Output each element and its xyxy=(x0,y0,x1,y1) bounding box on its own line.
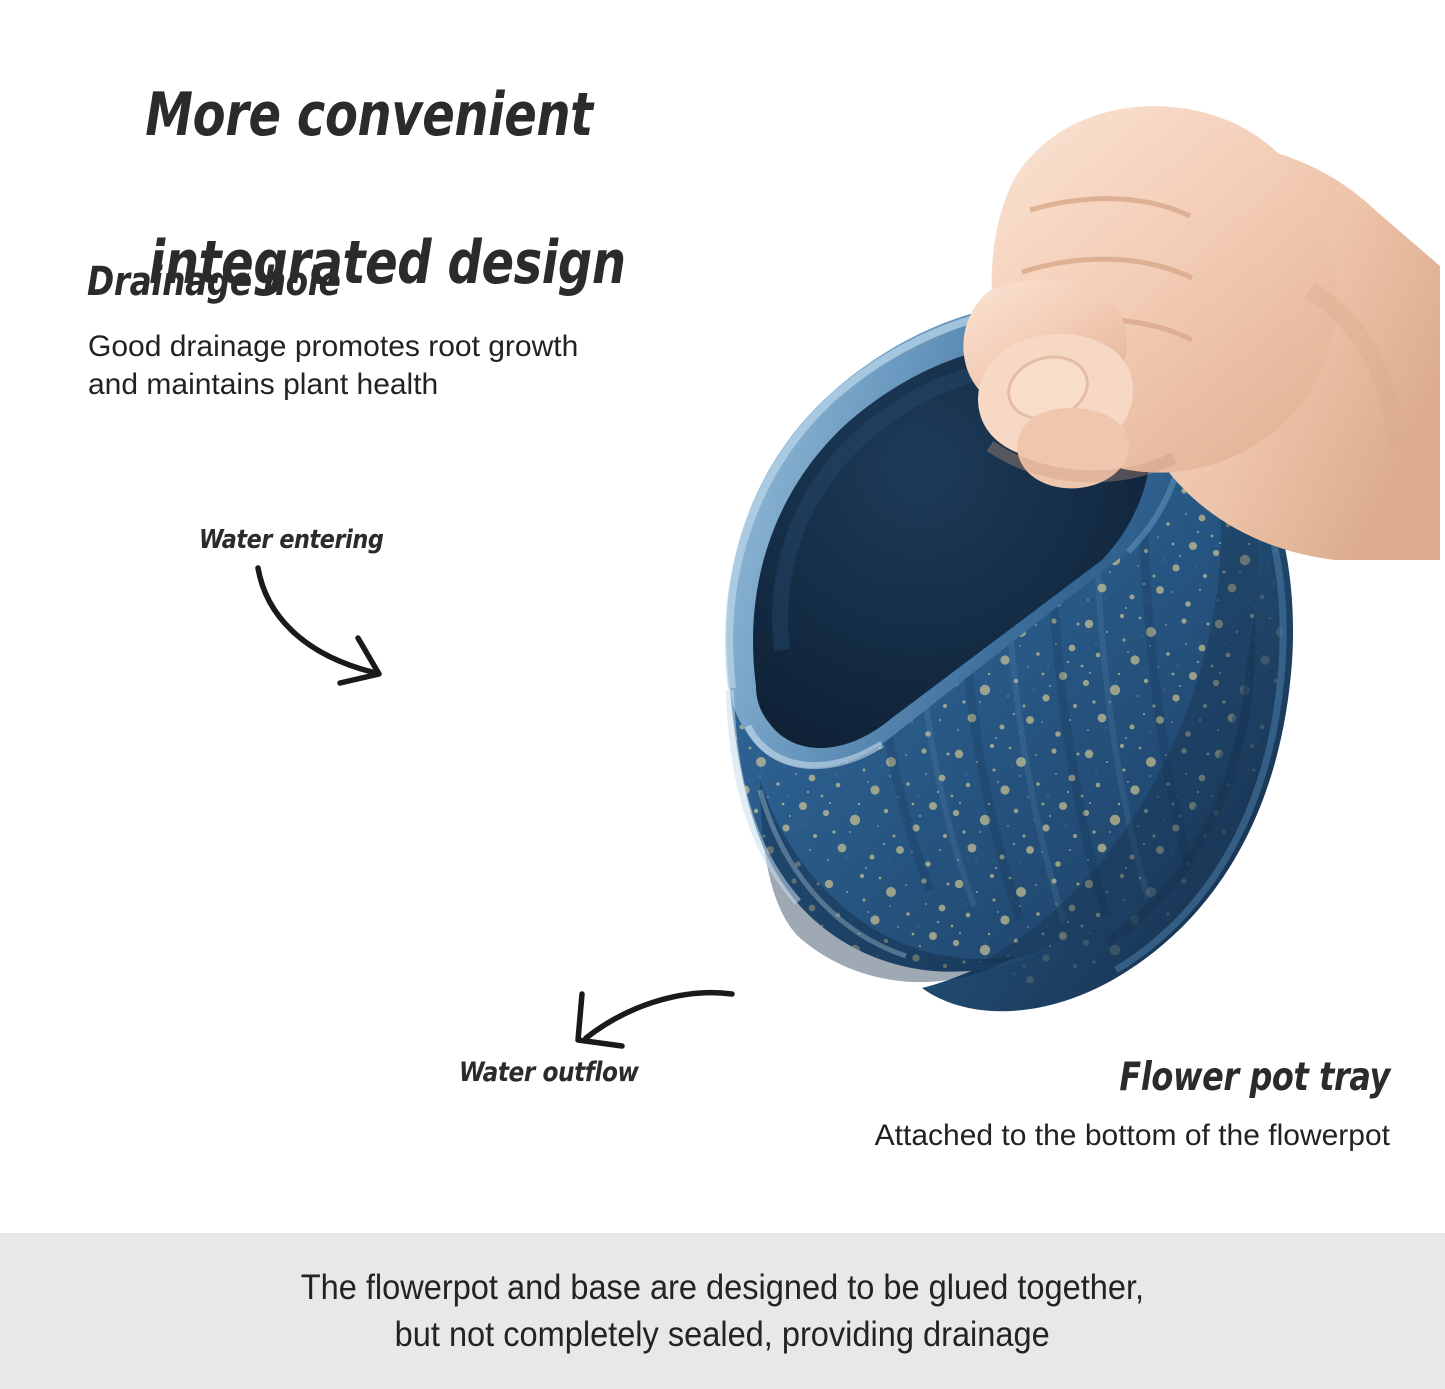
water-outflow-label: Water outflow xyxy=(459,1056,639,1090)
banner-line2: but not completely sealed, providing dra… xyxy=(395,1311,1050,1358)
water-entering-label: Water entering xyxy=(199,524,383,556)
bottom-banner: The flowerpot and base are designed to b… xyxy=(0,1233,1445,1389)
banner-line1: The flowerpot and base are designed to b… xyxy=(301,1264,1144,1311)
drainage-hole-heading: Drainage hole xyxy=(87,258,340,306)
flower-pot-tray-heading: Flower pot tray xyxy=(1119,1054,1390,1102)
product-illustration xyxy=(430,90,1440,1050)
flower-pot-tray-description: Attached to the bottom of the flowerpot xyxy=(875,1117,1390,1155)
water-entering-arrow-icon xyxy=(240,556,410,691)
infographic-page: More convenient integrated design Draina… xyxy=(0,0,1445,1389)
product-photo xyxy=(430,90,1440,1050)
water-outflow-arrow-icon xyxy=(560,980,740,1055)
